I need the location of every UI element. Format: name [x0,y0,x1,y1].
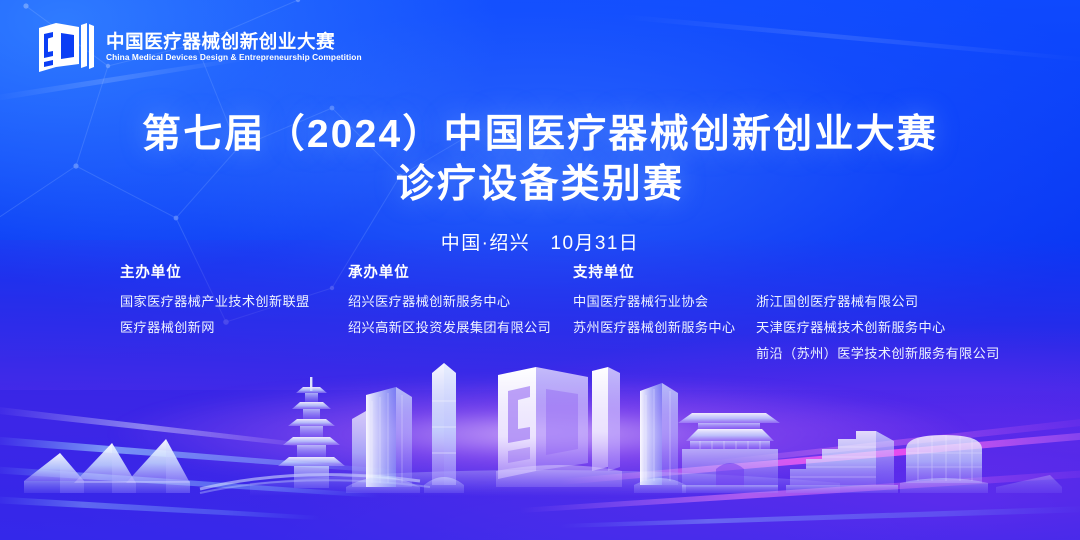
organizer-item: 医疗器械创新网 [120,321,348,334]
event-title-line2: 诊疗设备类别赛 [0,160,1080,210]
organizer-column-supporter: 支持单位 中国医疗器械行业协会 苏州医疗器械创新服务中心 [573,266,756,334]
organizer-item: 中国医疗器械行业协会 [573,295,756,308]
organizer-item: 浙江国创医疗器械有限公司 [756,295,1026,308]
organizer-item: 前沿（苏州）医学技术创新服务有限公司 [756,347,1026,360]
organizer-item: 苏州医疗器械创新服务中心 [573,321,756,334]
event-location-date: 中国·绍兴 10月31日 [0,228,1080,255]
competition-logo-icon [38,22,94,72]
organizer-column-undertaker: 承办单位 绍兴医疗器械创新服务中心 绍兴高新区投资发展集团有限公司 [348,266,573,334]
brand-logo-lockup[interactable]: 中国医疗器械创新创业大赛 China Medical Devices Desig… [38,22,370,72]
organizer-column-supporter-overflow: 浙江国创医疗器械有限公司 天津医疗器械技术创新服务中心 前沿（苏州）医学技术创新… [756,266,1026,360]
organizer-item: 天津医疗器械技术创新服务中心 [756,321,1026,334]
event-banner: 中国医疗器械创新创业大赛 China Medical Devices Desig… [0,0,1080,540]
organizer-column-host: 主办单位 国家医疗器械产业技术创新联盟 医疗器械创新网 [120,266,348,334]
organizer-heading: 支持单位 [573,266,756,281]
title-block: 第七届（2024）中国医疗器械创新创业大赛 诊疗设备类别赛 中国·绍兴 10月3… [0,110,1080,255]
brand-name-en: China Medical Devices Design & Entrepren… [106,53,362,62]
event-title-line1: 第七届（2024）中国医疗器械创新创业大赛 [0,110,1080,160]
organizer-heading: 主办单位 [120,266,348,281]
organizer-columns: 主办单位 国家医疗器械产业技术创新联盟 医疗器械创新网 承办单位 绍兴医疗器械创… [120,266,1026,360]
city-skyline-artwork [0,361,1080,496]
organizer-heading: 承办单位 [348,266,573,281]
organizer-item: 绍兴高新区投资发展集团有限公司 [348,321,573,334]
logo-monument [496,367,622,487]
organizer-item: 绍兴医疗器械创新服务中心 [348,295,573,308]
organizer-item: 国家医疗器械产业技术创新联盟 [120,295,348,308]
brand-name-cn: 中国医疗器械创新创业大赛 [106,32,370,51]
